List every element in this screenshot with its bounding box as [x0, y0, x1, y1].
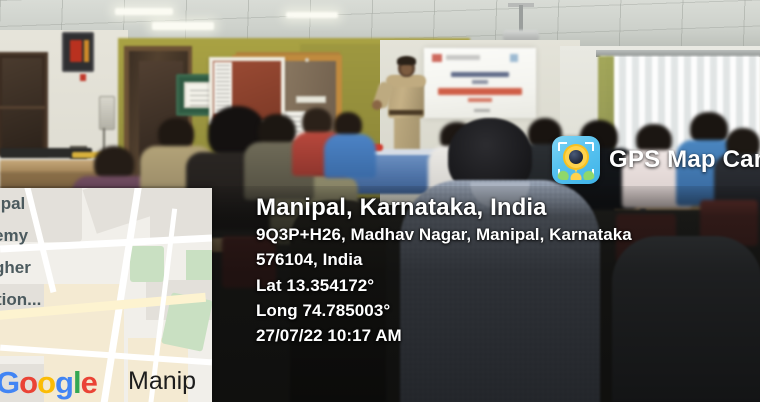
- slide-heading-line: [438, 88, 522, 95]
- window-mullion: [0, 106, 45, 109]
- projector-rod: [519, 5, 523, 33]
- map-label: emy: [0, 226, 28, 246]
- panel-indicator-amber: [84, 40, 89, 62]
- wall-display-panel: [62, 32, 94, 72]
- slide-title-line: [451, 72, 509, 77]
- gps-timestamp: 27/07/22 10:17 AM: [256, 323, 760, 348]
- panel-indicator-red: [70, 40, 82, 62]
- google-letter-g: G: [0, 365, 19, 400]
- map-label: ipal: [0, 194, 25, 214]
- google-letter-o2: o: [37, 365, 55, 400]
- map-block: [150, 188, 212, 238]
- icon-camera-lens: [565, 146, 587, 168]
- slide-footer-line: [474, 109, 490, 112]
- wall-fixture-dot: [305, 58, 309, 62]
- gps-map-camera-photo: ipal emy gher tion... Google Manip Manip…: [0, 0, 760, 402]
- google-letter-l: l: [73, 365, 81, 400]
- google-logo: Google: [0, 367, 97, 398]
- slide-subtitle-line: [472, 80, 488, 84]
- audience-body: [324, 134, 376, 178]
- google-letter-g2: g: [55, 365, 73, 400]
- slide-logo-right: [510, 54, 518, 62]
- map-area-green: [186, 250, 212, 280]
- ceiling-light: [286, 12, 338, 18]
- left-window: [0, 52, 48, 156]
- map-label: tion...: [0, 290, 41, 310]
- presenter-belt: [389, 110, 423, 115]
- wall-phone: [99, 96, 115, 130]
- presenter-hand: [372, 100, 382, 110]
- presenter-hair: [397, 56, 416, 65]
- slide-heading-sub: [468, 98, 492, 102]
- google-letter-e: e: [81, 365, 97, 400]
- ceiling-light: [152, 22, 214, 30]
- map-city-label: Manip: [128, 367, 196, 396]
- gps-address-line-2: 576104, India: [256, 247, 760, 272]
- gps-info-block: Manipal, Karnataka, India 9Q3P+H26, Madh…: [256, 194, 760, 348]
- app-brand-badge: GPS Map Camera: [552, 136, 760, 184]
- viewfinder-corner-tr: [585, 142, 594, 151]
- window-glass: [2, 58, 42, 150]
- google-letter-o1: o: [19, 365, 37, 400]
- wall-alarm-icon: [80, 74, 86, 81]
- gps-camera-lens-icon: [552, 136, 600, 184]
- app-brand-name: GPS Map Camera: [609, 146, 760, 174]
- ceiling-light: [115, 8, 173, 15]
- map-area-green: [130, 246, 164, 282]
- slide-header-text: [446, 55, 480, 60]
- gps-address-line-1: 9Q3P+H26, Madhav Nagar, Manipal, Karnata…: [256, 222, 760, 247]
- map-label: gher: [0, 258, 31, 278]
- gps-latitude: Lat 13.354172°: [256, 273, 760, 298]
- slide-logo-left: [432, 54, 442, 62]
- viewfinder-corner-tl: [558, 142, 567, 151]
- map-thumbnail[interactable]: ipal emy gher tion... Google Manip: [0, 188, 212, 402]
- wall-sign: [296, 96, 326, 103]
- gps-longitude: Long 74.785003°: [256, 298, 760, 323]
- projection-screen: [424, 48, 536, 118]
- gps-location-title: Manipal, Karnataka, India: [256, 194, 760, 222]
